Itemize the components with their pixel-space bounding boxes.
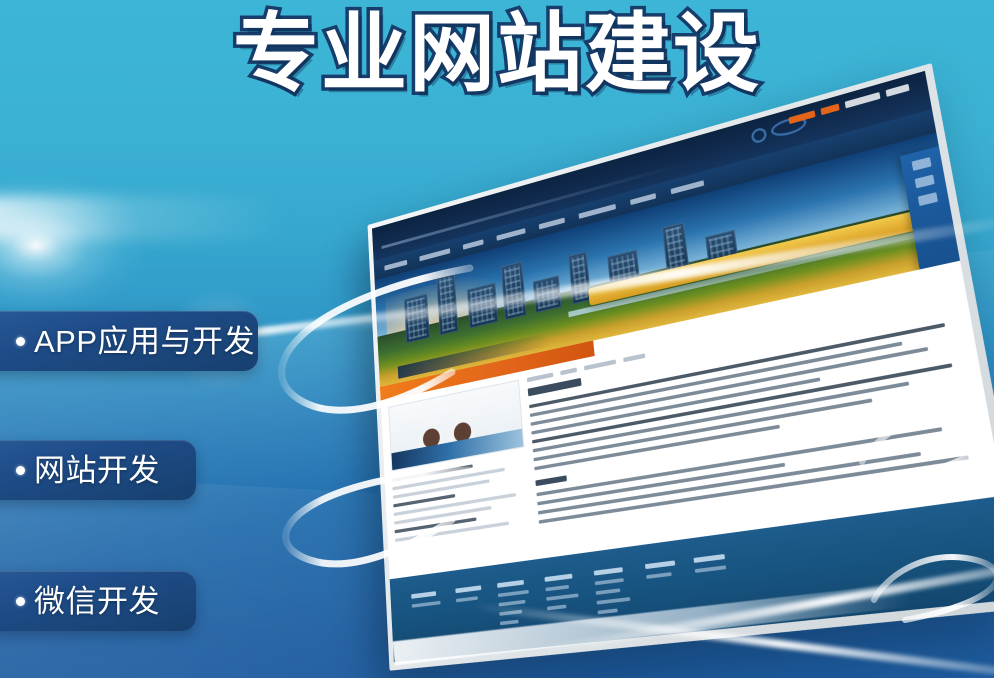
bullet-item-app[interactable]: APP应用与开发 — [0, 311, 258, 371]
bullet-dot-icon — [16, 597, 25, 606]
bullet-dot-icon — [16, 466, 25, 475]
bullet-dot-icon — [16, 337, 25, 346]
article-title — [527, 378, 581, 396]
bullet-label: 微信开发 — [34, 586, 160, 617]
sidebar-links — [392, 455, 530, 542]
promo-banner: 专业网站建设 — [0, 0, 994, 678]
bullet-item-wechat[interactable]: 微信开发 — [0, 571, 196, 631]
monitor-region — [378, 222, 918, 652]
site-sidebar — [388, 380, 533, 579]
globe-icon — [751, 126, 768, 144]
bullet-label: 网站开发 — [34, 455, 160, 486]
bullet-item-website[interactable]: 网站开发 — [0, 440, 196, 500]
article-subheading — [535, 475, 567, 486]
bullet-label: APP应用与开发 — [34, 326, 255, 357]
